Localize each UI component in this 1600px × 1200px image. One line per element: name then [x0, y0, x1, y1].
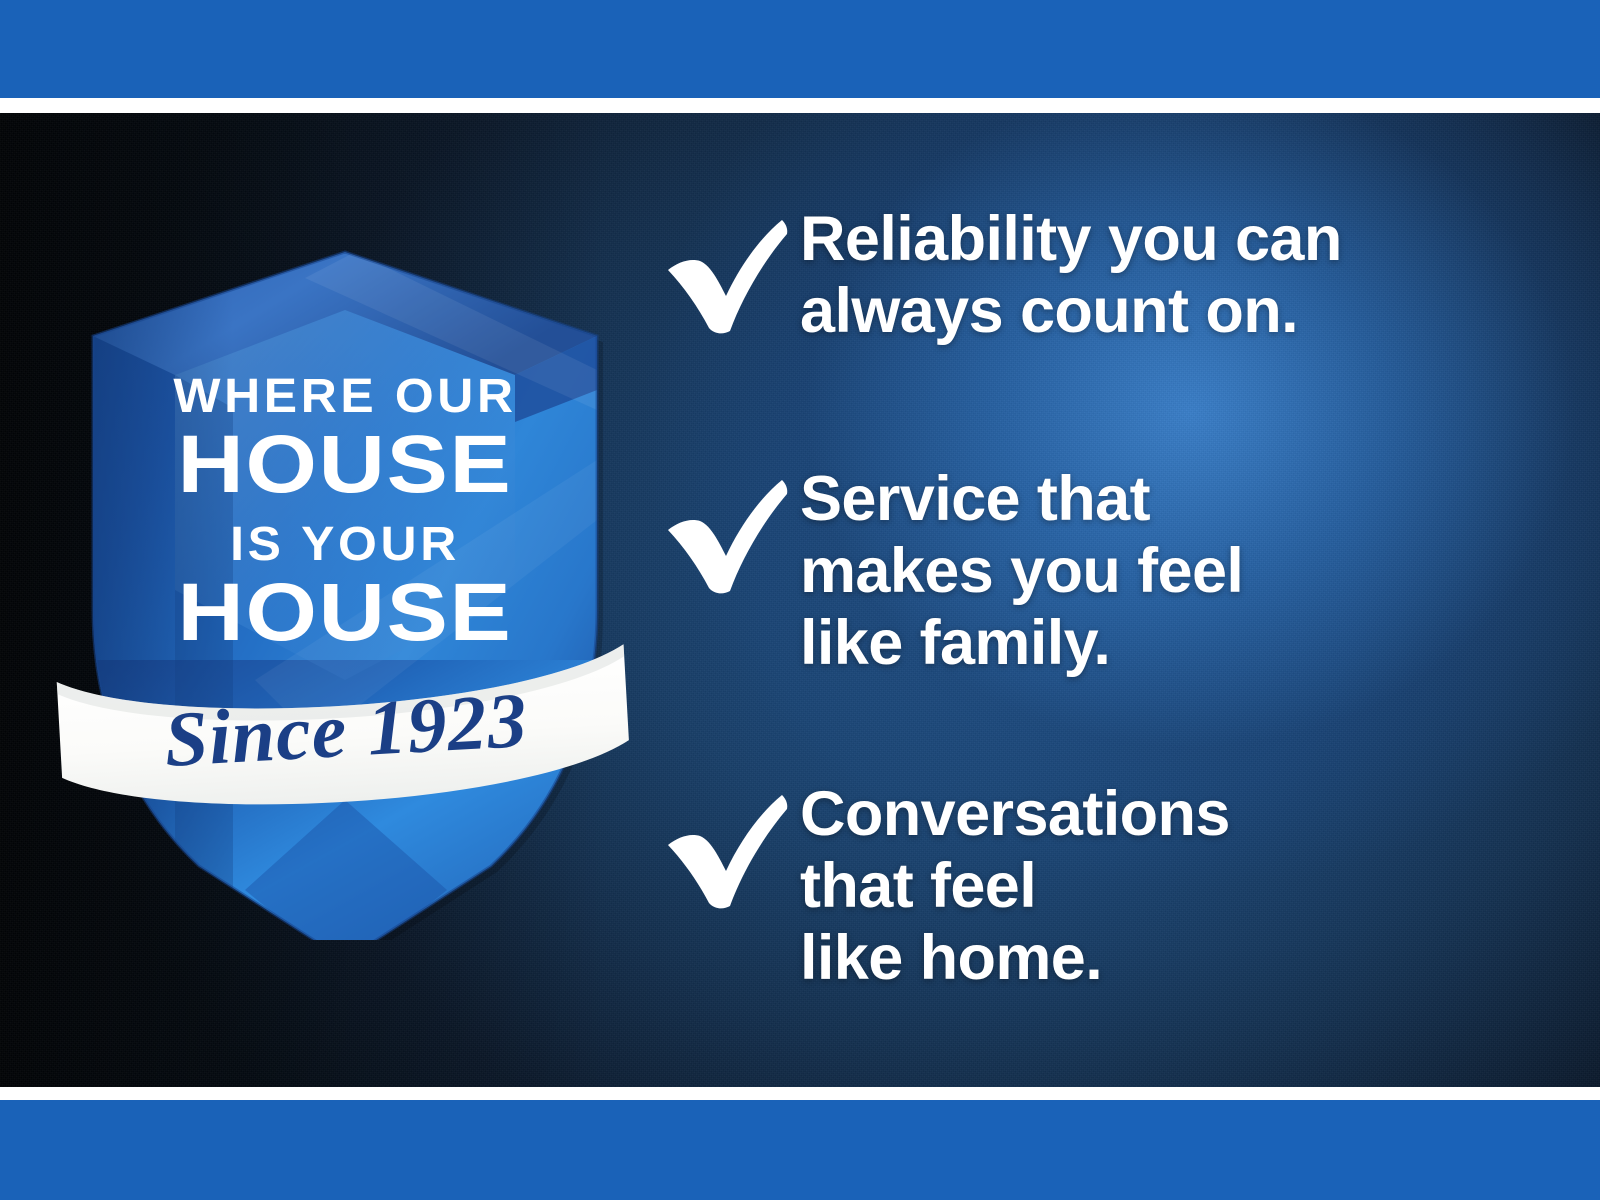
- benefit-item-conversations: Conversations that feel like home.: [660, 783, 1230, 994]
- logo-line-3: HOUSE: [178, 567, 513, 658]
- benefit-label: Conversations that feel like home.: [800, 779, 1230, 994]
- benefits-list: Reliability you can always count on. Ser…: [660, 113, 1560, 1087]
- benefit-label: Service that makes you feel like family.: [800, 464, 1243, 679]
- top-white-divider: [0, 98, 1600, 113]
- bottom-white-divider: [0, 1087, 1600, 1100]
- logo-line-0: WHERE OUR: [173, 370, 516, 423]
- promo-graphic: WHERE OUR HOUSE IS YOUR HOUSE Since 1923…: [0, 0, 1600, 1200]
- benefit-item-reliability: Reliability you can always count on.: [660, 208, 1342, 348]
- check-icon: [660, 208, 800, 339]
- check-icon: [660, 468, 800, 599]
- logo-shield-badge: WHERE OUR HOUSE IS YOUR HOUSE Since 1923: [55, 160, 635, 940]
- bottom-brand-bar: [0, 1100, 1600, 1200]
- top-brand-bar: [0, 0, 1600, 98]
- benefit-item-service: Service that makes you feel like family.: [660, 468, 1243, 679]
- logo-line-1: HOUSE: [178, 419, 513, 510]
- check-icon: [660, 783, 800, 914]
- benefit-label: Reliability you can always count on.: [800, 204, 1342, 348]
- logo-line-2: IS YOUR: [230, 518, 460, 571]
